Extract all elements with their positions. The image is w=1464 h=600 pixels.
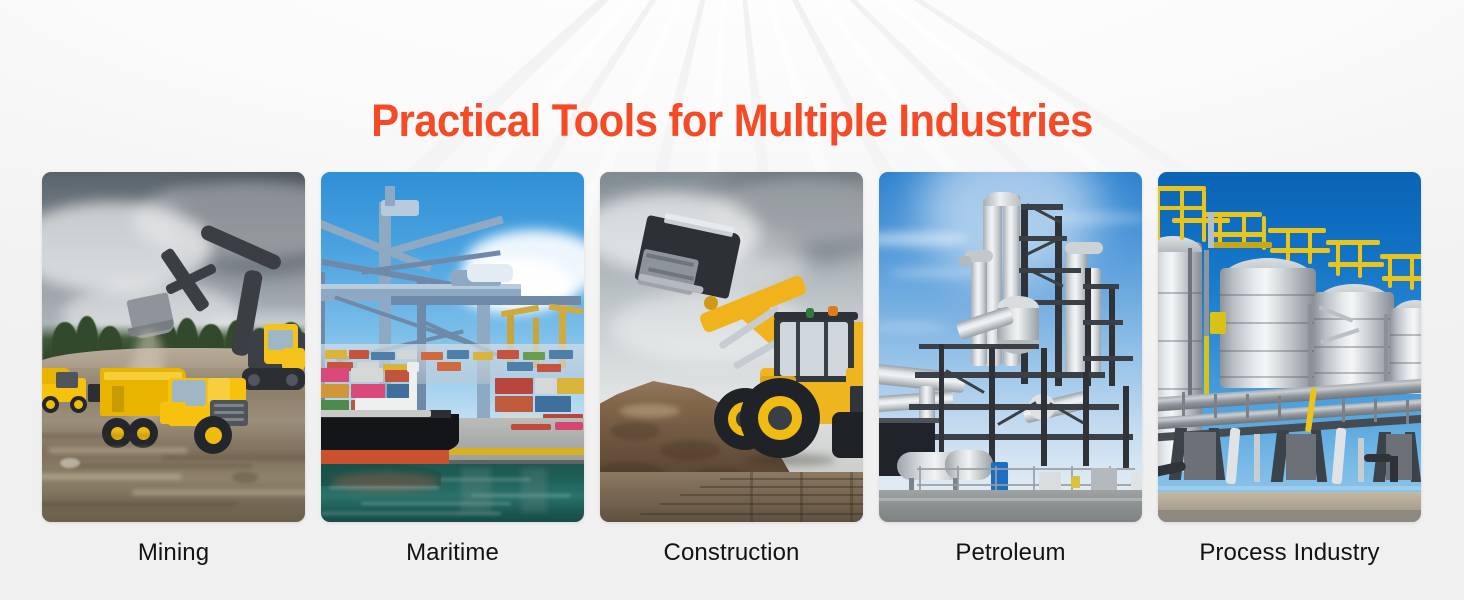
industry-card-list: Mining — [42, 172, 1422, 568]
mining-image — [42, 172, 305, 522]
card-label-petroleum: Petroleum — [879, 538, 1142, 568]
card-label-construction: Construction — [600, 538, 863, 568]
industries-section: Practical Tools for Multiple Industries — [0, 0, 1464, 600]
process-industry-image — [1158, 172, 1421, 522]
construction-image — [600, 172, 863, 522]
maritime-image — [321, 172, 584, 522]
petroleum-image — [879, 172, 1142, 522]
card-label-mining: Mining — [42, 538, 305, 568]
industry-card-petroleum[interactable]: Petroleum — [879, 172, 1142, 568]
card-label-maritime: Maritime — [321, 538, 584, 568]
industry-card-maritime[interactable]: Maritime — [321, 172, 584, 568]
industry-card-mining[interactable]: Mining — [42, 172, 305, 568]
page-title: Practical Tools for Multiple Industries — [51, 96, 1413, 146]
card-label-process-industry: Process Industry — [1158, 538, 1421, 568]
industry-card-process-industry[interactable]: Process Industry — [1158, 172, 1421, 568]
industry-card-construction[interactable]: Construction — [600, 172, 863, 568]
